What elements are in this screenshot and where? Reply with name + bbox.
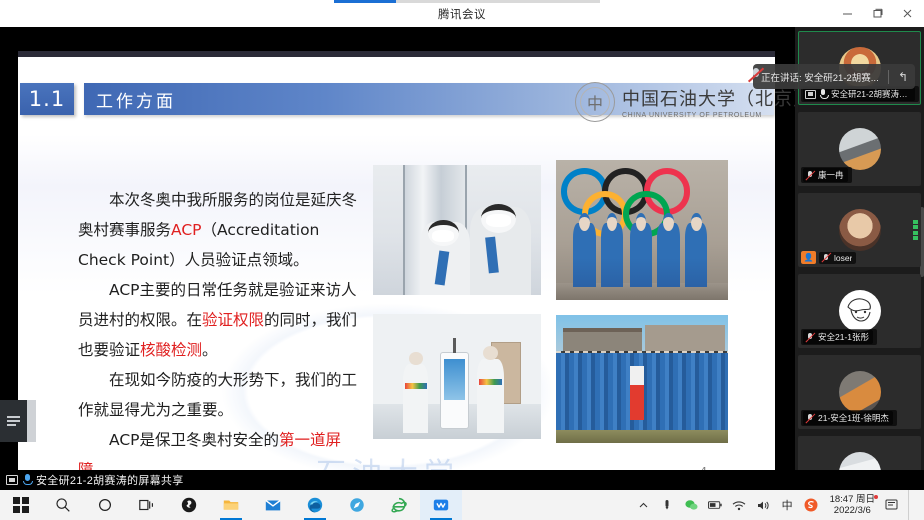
edge-icon xyxy=(306,496,324,514)
photo3-person-right xyxy=(477,359,504,433)
photo2-volunteer-1 xyxy=(573,223,595,287)
university-name-en: CHINA UNIVERSITY OF PETROLEUM xyxy=(622,112,812,119)
window-controls xyxy=(832,0,922,27)
wechat-tray-icon[interactable] xyxy=(684,498,699,513)
sketch-avatar-icon xyxy=(839,290,881,332)
host-badge-icon: 👤 xyxy=(801,251,816,264)
tencent-meeting-icon xyxy=(432,496,450,514)
participant-tile[interactable]: 21-安全1班-徐明杰 xyxy=(798,355,921,429)
mic-muted-icon xyxy=(821,253,831,263)
circle-icon xyxy=(96,496,114,514)
name-chip: loser xyxy=(819,252,856,264)
photo1-mask-left xyxy=(432,230,454,242)
photo3-uniform-stripe-right xyxy=(479,379,503,385)
search-button[interactable] xyxy=(42,490,84,520)
avatar xyxy=(839,290,881,332)
participant-tile[interactable]: 康一冉 xyxy=(798,112,921,186)
photo-olympic-rings xyxy=(556,160,728,300)
slide-section-title: 工作方面 xyxy=(96,87,176,112)
start-button[interactable] xyxy=(0,490,42,520)
clock-time: 18:47 周日 xyxy=(830,494,875,505)
body-text-run: 在现如今防疫的大形势下，我们的工作就显得尤为之重要。 xyxy=(78,371,357,419)
participant-tile[interactable]: 安全21-1张彤 xyxy=(798,274,921,348)
share-status-bar: 安全研21-2胡赛涛的屏幕共享 xyxy=(0,470,924,490)
sogou-tray-icon[interactable] xyxy=(804,498,819,513)
photo2-volunteer-4 xyxy=(657,223,679,287)
mail-icon xyxy=(264,496,282,514)
photo-acp-checkpoint xyxy=(373,314,541,439)
participant-list[interactable]: 安全研21-2胡赛涛的屏...康一冉👤loser安全21-1张彤21-安全1班-… xyxy=(795,27,924,470)
system-tray: 中 18:47 周日 2022/3/6 xyxy=(636,490,920,520)
mic-muted-icon xyxy=(805,332,815,342)
photo3-person-left xyxy=(403,364,428,433)
windows-logo-icon xyxy=(13,497,29,513)
ie-button[interactable] xyxy=(378,490,420,520)
sogou-icon xyxy=(180,496,198,514)
ie-icon xyxy=(390,496,408,514)
avatar xyxy=(839,209,881,251)
body-text-run: ACP是保卫冬奥村安全的 xyxy=(109,431,279,449)
microphone-icon xyxy=(22,474,32,486)
cortana-button[interactable] xyxy=(84,490,126,520)
tencent-meeting-button[interactable] xyxy=(420,490,462,520)
search-icon xyxy=(54,496,72,514)
name-chip: 安全研21-2胡赛涛的屏... xyxy=(803,87,915,101)
pen-tray-icon[interactable] xyxy=(660,498,675,513)
participant-name-badge: 👤loser xyxy=(801,251,856,264)
taskbar-items xyxy=(0,490,462,520)
photo3-kiosk xyxy=(440,352,469,430)
return-to-speaker-icon[interactable]: ↰ xyxy=(895,70,911,84)
file-explorer-button[interactable] xyxy=(210,490,252,520)
photo2-volunteer-3 xyxy=(630,223,652,287)
university-seal-icon: 中 xyxy=(575,82,615,122)
photo3-uniform-stripe-left xyxy=(405,383,427,389)
participant-name-badge: 安全21-1张彤 xyxy=(801,329,877,345)
notification-dot xyxy=(874,495,878,499)
participant-name-badge: 21-安全1班-徐明杰 xyxy=(801,410,897,426)
screen-share-icon xyxy=(805,90,816,99)
left-panel-shade xyxy=(27,400,36,442)
screen-share-icon xyxy=(6,475,18,485)
shared-screen-area: 石油大学 1.1 工作方面 中 中国石油大学（北京） CHINA UNIVERS… xyxy=(0,27,795,470)
participant-name-badge: 康一冉 xyxy=(801,167,852,183)
photo-volunteers-ppe xyxy=(373,165,541,295)
name-chip: 21-安全1班-徐明杰 xyxy=(803,411,893,425)
volume-meter xyxy=(913,212,918,240)
name-chip: 康一冉 xyxy=(803,168,848,182)
university-name-block: 中国石油大学（北京） CHINA UNIVERSITY OF PETROLEUM xyxy=(622,85,812,119)
menu-lines-icon xyxy=(7,414,20,428)
taskbar-clock[interactable]: 18:47 周日 2022/3/6 xyxy=(830,494,875,516)
seal-glyph: 中 xyxy=(587,90,603,114)
ime-icon[interactable]: 中 xyxy=(780,498,795,513)
participant-name: loser xyxy=(834,253,852,263)
windows-taskbar: 中 18:47 周日 2022/3/6 xyxy=(0,490,924,520)
battery-icon[interactable] xyxy=(708,498,723,513)
participant-name: 康一冉 xyxy=(818,169,844,181)
loading-progress-fill xyxy=(334,0,396,3)
toast-mic-muted-icon xyxy=(745,66,767,86)
avatar xyxy=(839,371,881,413)
window-title-bar: 腾讯会议 xyxy=(0,0,924,27)
mail-button[interactable] xyxy=(252,490,294,520)
slide-paragraph: 本次冬奥中我所服务的岗位是延庆冬奥村赛事服务ACP（Accreditation … xyxy=(78,185,366,275)
mic-on-icon xyxy=(819,89,828,100)
left-panel-toggle-button[interactable] xyxy=(0,400,27,442)
photo2-volunteer-2 xyxy=(601,223,623,287)
toast-separator xyxy=(888,70,889,84)
photo1-mask-right xyxy=(486,214,511,227)
window-title: 腾讯会议 xyxy=(438,6,486,22)
photo4-ground xyxy=(556,430,728,443)
slide-paragraph: ACP主要的日常任务就是验证来访人员进村的权限。在验证权限的同时，我们也要验证核… xyxy=(78,275,366,365)
participant-tile[interactable]: 👤loser xyxy=(798,193,921,267)
maximize-icon[interactable] xyxy=(862,0,892,27)
photo4-red-jacket-person xyxy=(630,366,644,420)
participant-name: 21-安全1班-徐明杰 xyxy=(818,412,889,424)
folder-icon xyxy=(222,496,240,514)
speaking-toast[interactable]: 正在讲话: 安全研21-2胡赛... ↰ xyxy=(753,64,915,89)
avatar xyxy=(839,128,881,170)
photo3-camera-pole xyxy=(453,338,456,353)
compass-icon xyxy=(348,496,366,514)
participant-name: 安全21-1张彤 xyxy=(818,331,869,343)
internet-tool-button[interactable] xyxy=(336,490,378,520)
wifi-icon[interactable] xyxy=(732,498,747,513)
task-view-button[interactable] xyxy=(126,490,168,520)
show-hidden-icons-button[interactable] xyxy=(636,498,651,513)
show-desktop-button[interactable] xyxy=(908,490,916,520)
slide-body-text: 本次冬奥中我所服务的岗位是延庆冬奥村赛事服务ACP（Accreditation … xyxy=(78,185,366,485)
mic-muted-icon xyxy=(805,413,815,423)
edge-button[interactable] xyxy=(294,490,336,520)
volume-icon[interactable] xyxy=(756,498,771,513)
task-view-icon xyxy=(138,496,156,514)
screen-root: 腾讯会议 石油大学 1.1 工作方面 中 xyxy=(0,0,924,520)
name-chip: 安全21-1张彤 xyxy=(803,330,873,344)
photo2-volunteer-5 xyxy=(685,223,707,287)
minimize-icon[interactable] xyxy=(832,0,862,27)
action-center-icon[interactable] xyxy=(884,498,899,513)
share-status-text: 安全研21-2胡赛涛的屏幕共享 xyxy=(36,472,184,488)
highlighted-text: 核酸检测 xyxy=(140,341,202,359)
body-text-run: 。 xyxy=(202,341,218,359)
loading-progress-track xyxy=(334,0,600,3)
slide-paragraph: 在现如今防疫的大形势下，我们的工作就显得尤为之重要。 xyxy=(78,365,366,425)
close-icon[interactable] xyxy=(892,0,922,27)
participant-name: 安全研21-2胡赛涛的屏... xyxy=(831,88,911,100)
highlighted-text: ACP xyxy=(171,221,202,239)
clock-date: 2022/3/6 xyxy=(830,505,875,516)
speaking-toast-text: 正在讲话: 安全研21-2胡赛... xyxy=(761,70,882,84)
sogou-input-button[interactable] xyxy=(168,490,210,520)
slide-section-number: 1.1 xyxy=(20,83,74,115)
highlighted-text: 验证权限 xyxy=(202,311,264,329)
mic-muted-icon xyxy=(805,170,815,180)
photo-group-photo xyxy=(556,315,728,443)
